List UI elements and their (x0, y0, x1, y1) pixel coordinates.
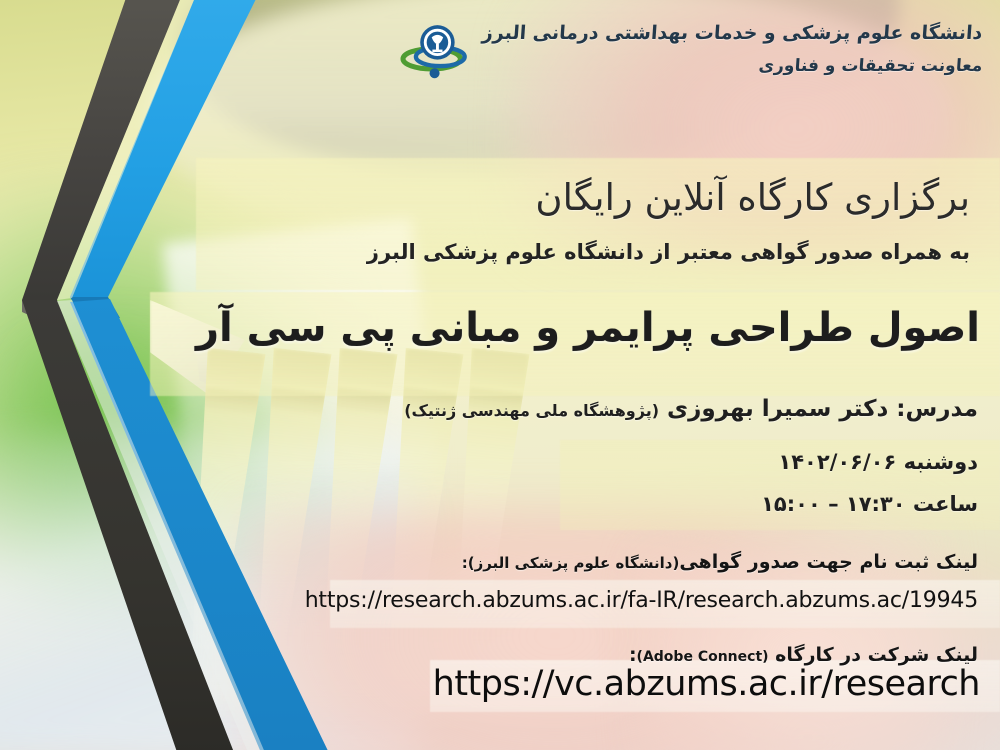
university-name-line-1: دانشگاه علوم پزشکی و خدمات بهداشتی درمان… (481, 22, 983, 44)
subtitle-text: به همراه صدور گواهی معتبر از دانشگاه علو… (270, 240, 970, 264)
university-name-block: دانشگاه علوم پزشکی و خدمات بهداشتی درمان… (482, 16, 982, 76)
instructor-affiliation: (پژوهشگاه ملی مهندسی ژنتیک) (404, 401, 659, 420)
workshop-time: ساعت ۱۷:۳۰ – ۱۵:۰۰ (558, 492, 978, 516)
attendance-label-colon: : (629, 644, 637, 666)
attendance-label-main: لینک شرکت در کارگاه (775, 644, 978, 666)
instructor-line: مدرس: دکتر سمیرا بهروزی (پژوهشگاه ملی مه… (278, 396, 978, 422)
registration-label-paren: (دانشگاه علوم پزشکی البرز): (462, 554, 680, 572)
ministry-of-health-emblem-icon (400, 18, 472, 84)
workshop-date: دوشنبه ۱۴۰۲/۰۶/۰۶ (558, 450, 978, 474)
attendance-url-link[interactable]: https://vc.abzums.ac.ir/research (20, 664, 980, 704)
workshop-title: اصول طراحی پرایمر و مبانی پی سی آر (140, 305, 980, 351)
registration-url-link[interactable]: https://research.abzums.ac.ir/fa-IR/rese… (18, 588, 978, 613)
headline-text: برگزاری کارگاه آنلاین رایگان (290, 175, 970, 221)
attendance-label: لینک شرکت در کارگاه (Adobe Connect): (278, 644, 978, 666)
attendance-platform-name: (Adobe Connect) (637, 649, 769, 665)
university-name-line-2: معاونت تحقیقات و فناوری (521, 56, 983, 76)
poster-header: دانشگاه علوم پزشکی و خدمات بهداشتی درمان… (400, 16, 982, 84)
registration-label: لینک ثبت نام جهت صدور گواهی(دانشگاه علوم… (278, 551, 978, 573)
registration-label-main: لینک ثبت نام جهت صدور گواهی (679, 551, 978, 573)
workshop-poster: دانشگاه علوم پزشکی و خدمات بهداشتی درمان… (0, 0, 1000, 750)
instructor-name: مدرس: دکتر سمیرا بهروزی (667, 396, 978, 422)
